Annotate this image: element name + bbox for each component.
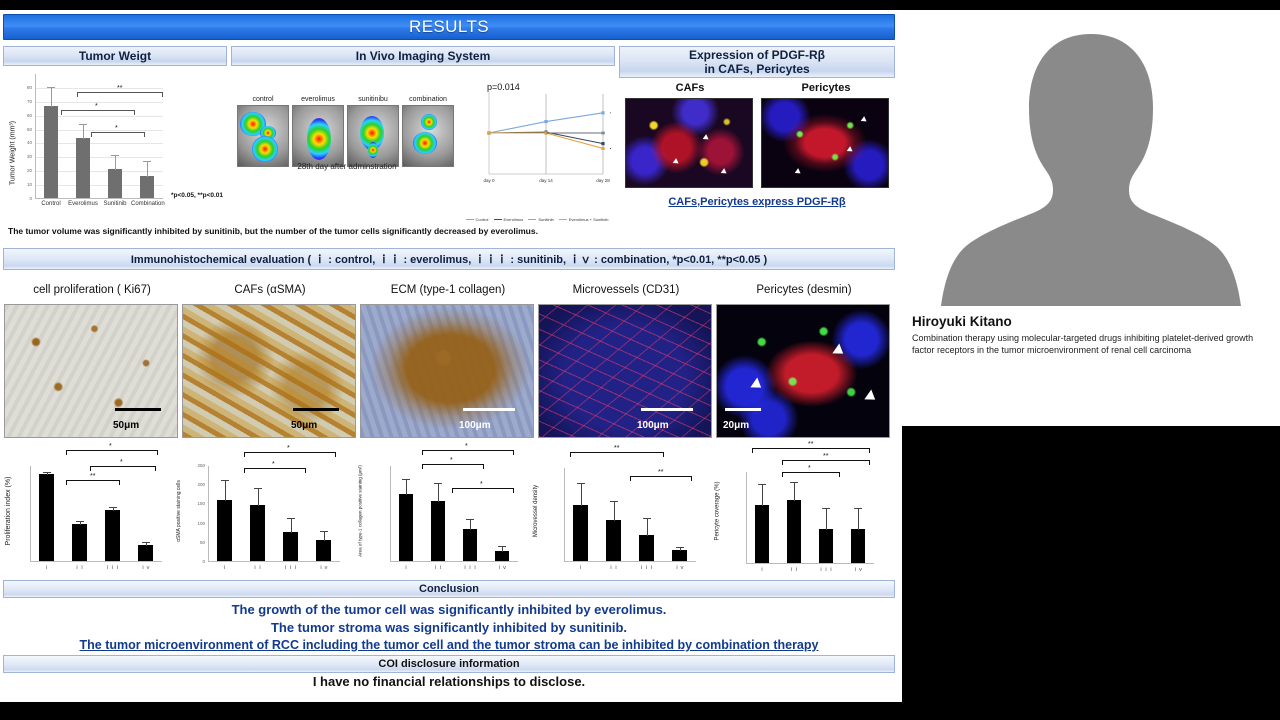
significance-star: *: [480, 481, 483, 488]
error-bar: [83, 125, 84, 139]
legend-swatch: [466, 219, 474, 220]
error-bar: [614, 502, 615, 521]
bar: [672, 550, 687, 561]
ihc-title-cd31: Microvessels (CD31): [537, 284, 715, 296]
bar: [250, 505, 265, 561]
ivis-cell: sunitinibu: [347, 96, 399, 167]
micrograph-cafs: [625, 98, 753, 188]
y-axis: [30, 466, 31, 562]
x-tick-label: ｉｖ: [307, 564, 340, 571]
ivis-cell: combination: [402, 96, 454, 167]
significance-star: *: [808, 465, 811, 472]
significance-bracket: [90, 466, 156, 471]
scale-bar: [463, 408, 515, 411]
ihc-title-ki67: cell proliferation ( Ki67): [3, 284, 181, 296]
arrowhead-icon: [673, 158, 681, 166]
significance-bracket: [570, 452, 664, 457]
panel-title-pdgf: Expression of PDGF-Rβ in CAFs, Pericytes: [619, 46, 895, 78]
ihc-title-ecm: ECM (type-1 collagen): [359, 284, 537, 296]
error-bar-cap: [466, 519, 474, 520]
error-bar-cap: [758, 484, 766, 485]
bar: [140, 176, 155, 198]
error-bar-cap: [577, 483, 585, 484]
histology-image-ecm: 100μm: [360, 304, 534, 438]
y-tick-label: 0: [182, 559, 205, 564]
ihc-evaluation-band: Immunohistochemical evaluation ( ｉ : con…: [3, 248, 895, 270]
x-tick-label: ｉｉｉ: [96, 564, 129, 571]
x-axis: [564, 561, 696, 562]
x-tick-label: ｉｖ: [129, 564, 162, 571]
plot-area: [208, 466, 340, 562]
error-bar-cap: [498, 546, 506, 547]
pdgf-footer: CAFs,Pericytes express PDGF-Rβ: [619, 196, 895, 208]
pdgf-sub-cafs: CAFs: [625, 82, 755, 94]
presenter-info: Hiroyuki Kitano Combination therapy usin…: [902, 306, 1280, 426]
chart-microvessel-density: ｉｉｉｉｉｉｉｖ****Microvessel density: [538, 442, 712, 580]
significance-bracket: [66, 450, 158, 455]
bar: [108, 169, 123, 198]
chart-asma-positive: ｉｉｉｉｉｉｉｖ050100150200250**αSMA positive s…: [182, 442, 356, 580]
bar: [495, 551, 510, 561]
y-tick-label: 30: [3, 154, 32, 159]
x-tick-label: ｉｉｉ: [274, 564, 307, 571]
conclusion-underlined: The tumor microenvironment of RCC includ…: [3, 638, 895, 652]
chart-proliferation-index: ｉｉｉｉｉｉｉｖ****Proliferation index (%): [4, 442, 178, 580]
y-tick-label: 0: [3, 196, 32, 201]
y-tick-label: 250: [182, 463, 205, 468]
error-bar: [502, 547, 503, 552]
plot-area: [564, 468, 696, 562]
legend-label: Everolimus: [504, 217, 524, 222]
histology-image-asma: 50μm: [182, 304, 356, 438]
error-bar-cap: [434, 483, 442, 484]
significance-bracket: [452, 488, 514, 493]
significance-bracket: [782, 460, 870, 465]
significance-star: **: [117, 85, 122, 92]
x-tick-label: Combination: [131, 201, 163, 207]
bar: [105, 510, 120, 561]
significance-star: *: [120, 459, 123, 466]
significance-star: *: [115, 125, 118, 132]
results-banner-title: RESULTS: [409, 17, 489, 37]
presenter-avatar-box: [902, 10, 1280, 306]
x-tick-label: ｉｖ: [663, 564, 696, 571]
x-tick-label: ｉｉ: [778, 566, 810, 573]
ivis-subcaption: 28th day after adminstration: [237, 162, 457, 171]
ivis-cell: control: [237, 96, 289, 167]
bar: [573, 505, 588, 561]
x-tick-label: day 0: [473, 178, 505, 183]
x-tick-label: ｉｉ: [597, 564, 630, 571]
x-axis: [746, 563, 874, 564]
significance-bracket: [630, 476, 692, 481]
error-bar: [581, 484, 582, 506]
plot-area: [390, 466, 518, 562]
pdgf-sub-pericytes: Pericytes: [761, 82, 891, 94]
error-bar-cap: [221, 480, 229, 481]
y-tick-label: 60: [3, 113, 32, 118]
significance-bracket: [244, 452, 336, 457]
coi-heading: COI disclosure information: [3, 655, 895, 673]
error-bar: [438, 484, 439, 502]
error-bar: [647, 519, 648, 535]
bar: [819, 529, 834, 563]
error-bar: [406, 480, 407, 494]
x-tick-label: ｉｉｉ: [810, 566, 842, 573]
screen: RESULTS Tumor Weigt Tumor Weight (mm³) *…: [0, 0, 1280, 720]
ivis-image-strip: control everolimus s: [237, 96, 454, 167]
x-tick-label: day 28: [587, 178, 619, 183]
x-tick-label: ｉｉ: [63, 564, 96, 571]
significance-bracket: [61, 110, 135, 115]
bar: [431, 501, 446, 561]
error-bar-cap: [854, 508, 862, 509]
significance-star: **: [614, 445, 619, 452]
legend-label: Sunitinib: [538, 217, 553, 222]
legend-label: Everolimus + Sunitinib: [569, 217, 609, 222]
error-bar: [258, 489, 259, 506]
arrowhead-icon: [750, 378, 764, 393]
chart-legend: ControlEverolimusSunitinibEverolimus + S…: [463, 217, 611, 222]
ivis-caption: combination: [402, 96, 454, 103]
y-axis: [390, 466, 391, 562]
y-tick-label: 20: [3, 168, 32, 173]
bar: [138, 545, 153, 561]
scale-label: 50μm: [291, 420, 317, 431]
chart-pericyte-coverage: ｉｉｉｉｉｉｉｖ*****Pericyte coverage (%): [716, 442, 890, 580]
error-bar-cap: [254, 488, 262, 489]
bar: [72, 524, 87, 561]
y-tick-label: 200: [182, 482, 205, 487]
error-bar-cap: [643, 518, 651, 519]
presenter-name: Hiroyuki Kitano: [912, 314, 1270, 329]
y-axis: [208, 466, 209, 562]
x-tick-label: ｉ: [564, 564, 597, 571]
arrowhead-icon: [847, 146, 855, 154]
legend-item: Sunitinib: [528, 217, 553, 222]
error-bar: [47, 473, 48, 475]
micrograph-pericytes: [761, 98, 889, 188]
legend-swatch: [528, 219, 536, 220]
x-tick-label: ｉｖ: [486, 564, 518, 571]
x-axis: [208, 561, 340, 562]
row1-caption: The tumor volume was significantly inhib…: [8, 226, 618, 236]
scale-bar: [115, 408, 161, 411]
plot-area: [746, 472, 874, 564]
y-tick-label: 150: [182, 501, 205, 506]
error-bar: [80, 522, 81, 525]
y-tick-label: 50: [182, 540, 205, 545]
axis-label-y: αSMA positive staining cells: [176, 480, 182, 542]
ivis-image-control: [237, 105, 289, 167]
error-bar: [858, 509, 859, 530]
bar: [44, 106, 59, 198]
legend-swatch: [559, 219, 567, 220]
x-tick-label: Sunitinib: [99, 201, 131, 207]
ihc-title-asma: CAFs (αSMA): [181, 284, 359, 296]
axis-label-y: Pericyte coverage (%): [715, 481, 721, 540]
poster-slide: RESULTS Tumor Weigt Tumor Weight (mm³) *…: [0, 10, 902, 702]
ivis-caption: everolimus: [292, 96, 344, 103]
scale-label: 20μm: [723, 420, 749, 431]
y-tick-label: 70: [3, 99, 32, 104]
histology-image-ki67: 50μm: [4, 304, 178, 438]
ivis-image-combination: [402, 105, 454, 167]
significance-bracket: [77, 92, 163, 97]
error-bar-cap: [142, 542, 150, 543]
significance-star: *: [287, 445, 290, 452]
error-bar-cap: [109, 507, 117, 508]
scale-bar: [725, 408, 761, 411]
significance-star: *: [109, 443, 112, 450]
error-bar-cap: [610, 501, 618, 502]
ivis-cell: everolimus: [292, 96, 344, 167]
significance-star: *: [95, 103, 98, 110]
x-tick-label: ｉ: [30, 564, 63, 571]
letterbox-fill: [902, 426, 1280, 720]
error-bar: [113, 508, 114, 511]
panel-pdgf: Expression of PDGF-Rβ in CAFs, Pericytes…: [619, 46, 895, 240]
significance-star: **: [808, 441, 813, 448]
ivis-image-sunitinib: [347, 105, 399, 167]
arrowhead-icon: [795, 168, 803, 176]
error-bar-cap: [822, 508, 830, 509]
ihc-title-desmin: Pericytes (desmin): [715, 284, 893, 296]
significance-bracket: [782, 472, 840, 477]
scale-bar: [641, 408, 693, 411]
y-axis: [564, 468, 565, 562]
error-bar: [225, 481, 226, 501]
y-axis: [746, 472, 747, 564]
error-bar: [762, 485, 763, 506]
panel-title-ivis: In Vivo Imaging System: [231, 46, 615, 66]
bar: [851, 529, 866, 563]
significance-star: *: [450, 457, 453, 464]
significance-star: *: [465, 443, 468, 450]
error-bar-cap: [676, 547, 684, 548]
significance-bracket: [422, 450, 514, 455]
error-bar: [115, 156, 116, 170]
ivis-image-everolimus: [292, 105, 344, 167]
bar: [639, 535, 654, 561]
arrowhead-icon: [703, 134, 711, 142]
x-tick-label: ｉ: [746, 566, 778, 573]
significance-bracket: [422, 464, 484, 469]
error-bar: [51, 88, 52, 107]
ivis-caption: control: [237, 96, 289, 103]
y-tick-label: 80: [3, 85, 32, 90]
error-bar-cap: [76, 521, 84, 522]
legend-label: Control: [476, 217, 489, 222]
x-tick-label: ｉｉｉ: [454, 564, 486, 571]
x-tick-label: ｉｉ: [241, 564, 274, 571]
x-tick-label: Control: [35, 201, 67, 207]
scale-label: 100μm: [459, 420, 491, 431]
error-bar: [291, 519, 292, 533]
bar: [787, 500, 802, 563]
coi-text: I have no financial relationships to dis…: [3, 674, 895, 689]
significance-bracket: [66, 480, 120, 485]
error-bar-cap: [143, 161, 151, 162]
scale-bar: [293, 408, 339, 411]
error-bar: [826, 509, 827, 530]
panel-ivis: In Vivo Imaging System control everolimu…: [231, 46, 615, 240]
significance-star: *: [272, 461, 275, 468]
error-bar: [680, 548, 681, 552]
significance-bracket: [91, 132, 145, 137]
bar: [39, 474, 54, 561]
bar: [399, 494, 414, 561]
bar: [217, 500, 232, 561]
y-tick-label: 40: [3, 140, 32, 145]
x-axis: [390, 561, 518, 562]
significance-bracket: [244, 468, 306, 473]
legend-item: Everolimus + Sunitinib: [559, 217, 609, 222]
y-tick-label: 10: [3, 182, 32, 187]
chart-collagen-area: ｉｉｉｉｉｉｉｖ***Area of type-1 collagen posit…: [360, 442, 534, 580]
error-bar: [324, 532, 325, 540]
x-tick-label: ｉｉ: [422, 564, 454, 571]
axis-label-y: Area of type-1 collagen positive stainin…: [357, 465, 362, 557]
error-bar: [470, 520, 471, 531]
scale-label: 50μm: [113, 420, 139, 431]
error-bar: [147, 162, 148, 177]
axis-label-y: Proliferation index (%): [5, 477, 12, 546]
histology-image-desmin: 20μm: [716, 304, 890, 438]
axis-label-y: Microvessel density: [533, 485, 539, 537]
ivis-caption: sunitinibu: [347, 96, 399, 103]
gridline: [35, 102, 163, 103]
panel-title-pdgf-line1: Expression of PDGF-Rβ: [689, 48, 825, 62]
bar: [283, 532, 298, 561]
y-tick-label: 100: [182, 521, 205, 526]
significance-bracket: [752, 448, 870, 453]
y-tick-label: 50: [3, 127, 32, 132]
error-bar-cap: [111, 155, 119, 156]
error-bar-cap: [402, 479, 410, 480]
arrowhead-icon: [832, 344, 846, 359]
conclusion-heading: Conclusion: [3, 580, 895, 598]
arrowhead-icon: [861, 116, 869, 124]
error-bar-cap: [79, 124, 87, 125]
x-tick-label: day 14: [530, 178, 562, 183]
bar: [755, 505, 770, 563]
person-silhouette-icon: [931, 20, 1251, 306]
error-bar: [794, 483, 795, 501]
presenter-talk-title: Combination therapy using molecular-targ…: [912, 333, 1270, 356]
ihc-column-titles: cell proliferation ( Ki67) CAFs (αSMA) E…: [3, 284, 895, 304]
legend-item: Everolimus: [494, 217, 524, 222]
gridline: [35, 88, 163, 89]
x-tick-label: ｉｉｉ: [630, 564, 663, 571]
bar: [606, 520, 621, 561]
error-bar-cap: [287, 518, 295, 519]
conclusion-line-1: The growth of the tumor cell was signifi…: [3, 602, 895, 617]
error-bar-cap: [47, 87, 55, 88]
panel-title-pdgf-line2: in CAFs, Pericytes: [704, 62, 809, 76]
y-axis: [35, 74, 36, 199]
error-bar-cap: [43, 472, 51, 473]
x-tick-label: ｉｖ: [842, 566, 874, 573]
x-axis: [35, 198, 163, 199]
x-tick-label: ｉ: [208, 564, 241, 571]
panel-title-tumor-weight: Tumor Weigt: [3, 46, 227, 66]
error-bar-cap: [320, 531, 328, 532]
arrowhead-icon: [864, 390, 878, 405]
histology-image-cd31: 100μm: [538, 304, 712, 438]
bar: [316, 540, 331, 561]
significance-star: **: [823, 453, 828, 460]
error-bar-cap: [790, 482, 798, 483]
results-banner: RESULTS: [3, 14, 895, 40]
panel-tumor-weight: Tumor Weigt Tumor Weight (mm³) *p<0.05, …: [3, 46, 227, 240]
x-tick-label: ｉ: [390, 564, 422, 571]
x-axis: [30, 561, 162, 562]
legend-item: Control: [466, 217, 489, 222]
bar: [463, 529, 478, 561]
significance-star: **: [658, 469, 663, 476]
conclusion-line-2: The tumor stroma was significantly inhib…: [3, 620, 895, 635]
bar: [76, 138, 91, 198]
x-tick-label: Everolimus: [67, 201, 99, 207]
legend-swatch: [494, 219, 502, 220]
significance-note: *p<0.05, **p<0.01: [171, 192, 223, 199]
scale-label: 100μm: [637, 420, 669, 431]
chart-tumor-weight: Tumor Weight (mm³) *p<0.05, **p<0.01 Con…: [3, 66, 227, 240]
arrowhead-icon: [721, 168, 729, 176]
chart-ivis-growth: p=0.014 day 0day 14day 28 ControlEveroli…: [463, 72, 611, 222]
error-bar: [146, 543, 147, 546]
significance-star: **: [90, 473, 95, 480]
presenter-panel: Hiroyuki Kitano Combination therapy usin…: [902, 0, 1280, 720]
